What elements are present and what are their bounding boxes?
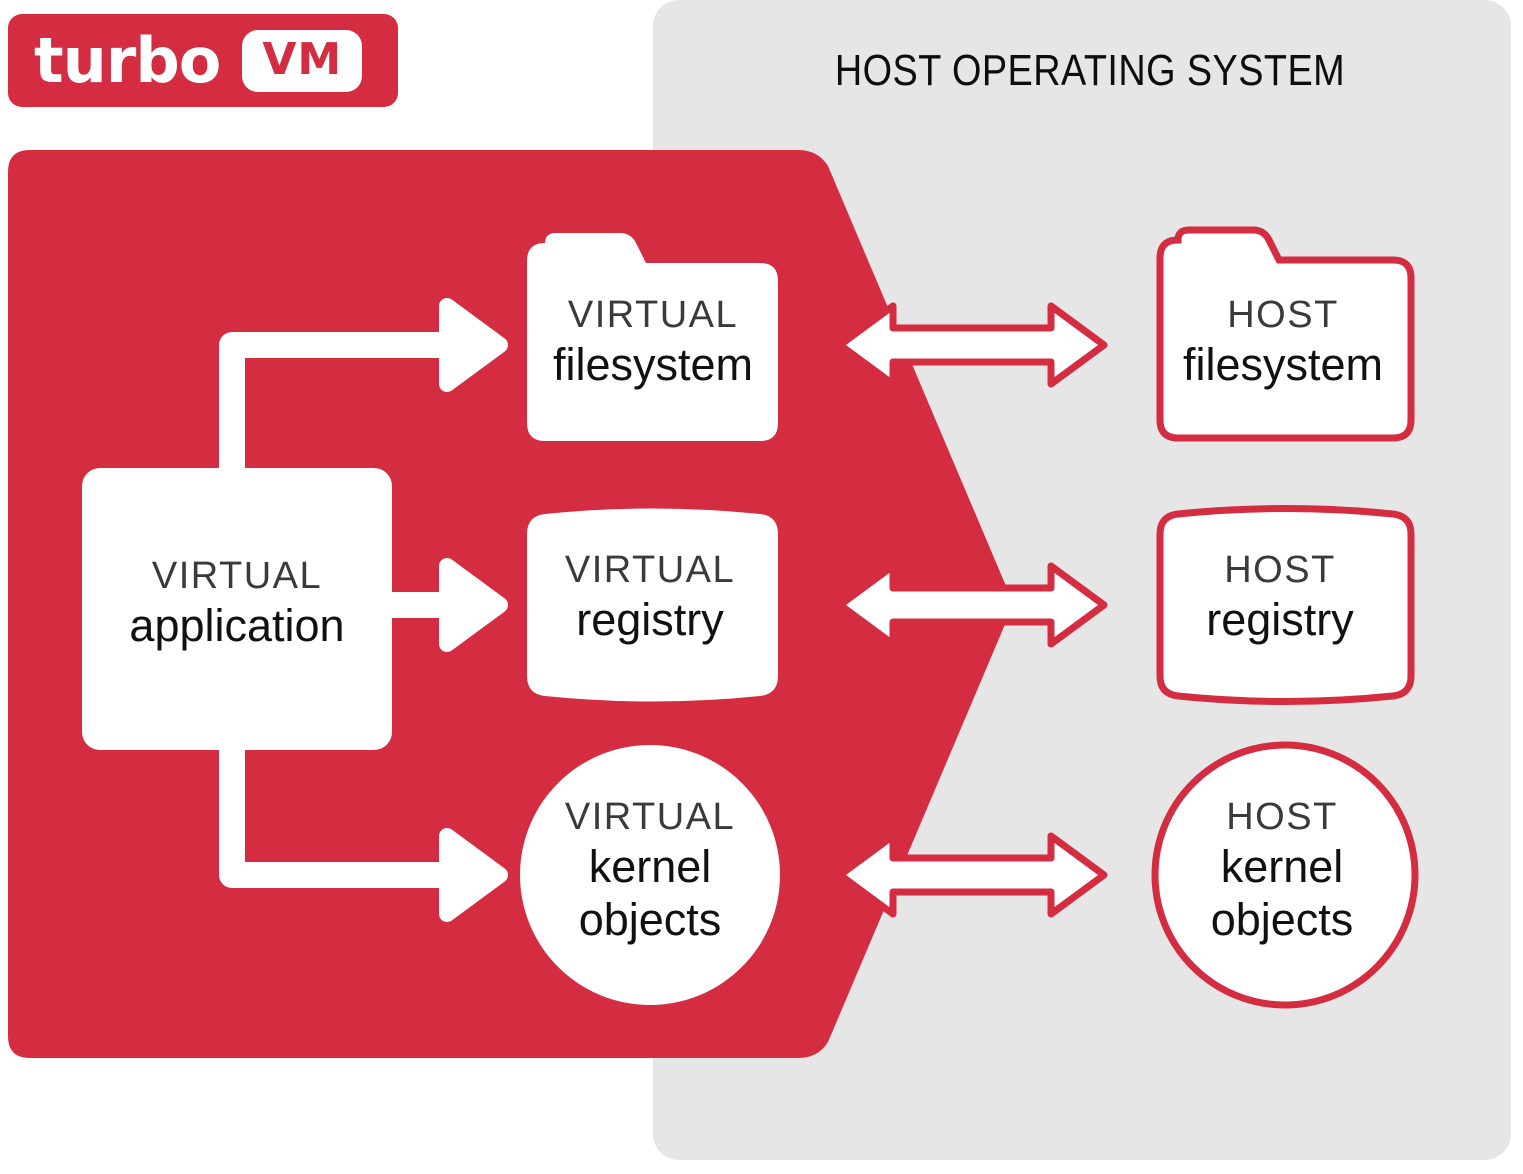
diagram-shapes	[0, 0, 1523, 1174]
virtual-filesystem-folder	[527, 233, 778, 441]
virtual-application-box	[82, 468, 392, 750]
host-operating-system-title: HOST OPERATING SYSTEM	[720, 46, 1460, 96]
host-kernel-objects-circle	[1155, 745, 1415, 1005]
diagram-canvas: turbo VM HOST OPERATING SYSTEM VIRTUAL a…	[0, 0, 1523, 1174]
logo-wordmark: turbo	[34, 30, 220, 92]
host-registry-shape	[1160, 509, 1411, 702]
virtual-kernel-objects-circle	[520, 745, 780, 1005]
turbo-vm-logo: turbo VM	[8, 14, 398, 107]
host-filesystem-folder	[1160, 230, 1411, 438]
virtual-registry-shape	[527, 509, 778, 702]
logo-vm-badge: VM	[242, 30, 362, 92]
